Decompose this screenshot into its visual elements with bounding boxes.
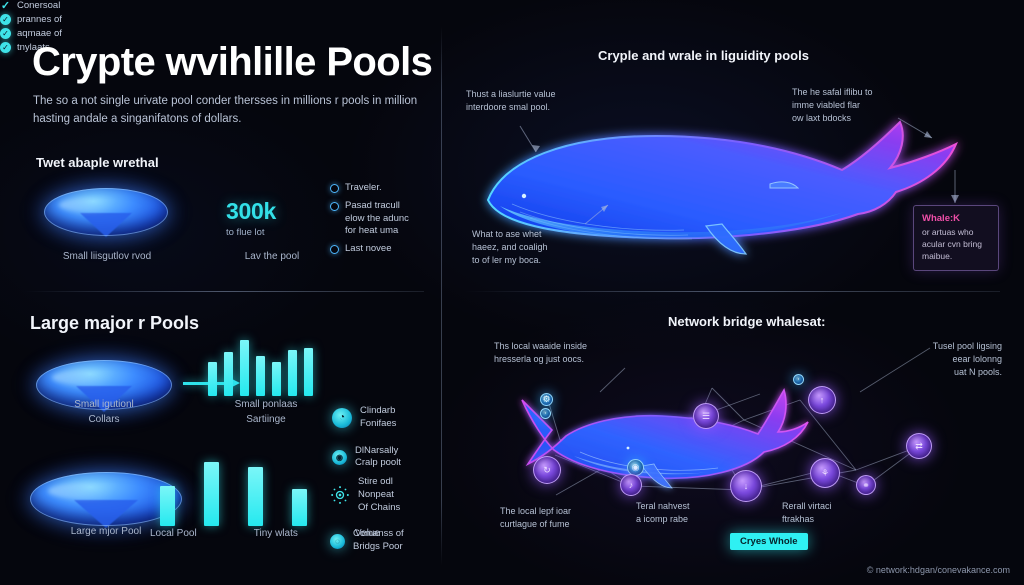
checklist-label: prannes of [17, 14, 62, 25]
check-circle-icon: ✓ [0, 28, 11, 39]
bar [160, 486, 175, 526]
infographic-canvas: Crypte wvihlille Pools The so a not sing… [0, 0, 1024, 585]
network-node[interactable]: ☰ [693, 403, 719, 429]
bullet-list-top-left: Traveler. Pasad tracull elow the adunc f… [330, 182, 440, 261]
legend-label: Comanss of Bridgs Poor [353, 528, 404, 554]
bridge-icon: ◌ [330, 534, 345, 549]
check-circle-icon: ✓ [0, 42, 11, 53]
checklist-label: aqmaae of [17, 28, 62, 39]
horizontal-divider-right [464, 291, 1000, 292]
axis-label: Tiny wlats [254, 528, 298, 539]
liquidity-pool-small-icon [44, 188, 168, 236]
list-item: Pasad tracull elow the adunc for heat um… [330, 200, 440, 238]
list-item: ✓ prannes of [0, 14, 108, 25]
list-item: ◔ Clindarb Fonifaes [332, 405, 444, 431]
stat-value: 300k [226, 198, 276, 225]
ring-bullet-icon [330, 184, 339, 193]
network-node[interactable]: ↻ [533, 456, 561, 484]
bullet-label: Last novee [345, 243, 391, 256]
node-icon: ◉ [332, 450, 347, 465]
legend-label: Clindarb Fonifaes [360, 405, 396, 431]
icon-legend-group-b: Stire odl Nonpeat Of Chains ◌ Comanss of… [330, 476, 444, 568]
bar-chart-top [208, 340, 313, 396]
list-item: ◉ DlNarsally Cralp poolt [332, 445, 444, 471]
annotation-callout: Teral nahvest a icomp rabe [636, 500, 732, 526]
section-heading-top-left: Twet abaple wrethal [36, 155, 159, 170]
bar [292, 489, 307, 526]
network-node[interactable]: ⇄ [906, 433, 932, 459]
axis-label: Local Pool [150, 528, 197, 539]
bullet-label: Traveler. [345, 182, 382, 195]
network-node[interactable]: ⚙ [540, 393, 553, 406]
list-item: ✓ aqmaae of [0, 28, 108, 39]
legend-label: Stire odl Nonpeat Of Chains [358, 476, 400, 514]
annotation-callout: The he safal iflibu to imme viabled flar… [792, 86, 900, 124]
watermark: © network:hdgan/conevakance.com [867, 565, 1010, 575]
network-node[interactable]: ⋅ [793, 374, 804, 385]
annotation-callout: Rerall virtaci ftrakhas [782, 500, 882, 526]
bar [256, 356, 265, 396]
horizontal-divider-left [24, 291, 424, 292]
network-node[interactable]: ↓ [730, 470, 762, 502]
list-item: ◌ Comanss of Bridgs Poor [330, 528, 444, 554]
legend-label: DlNarsally Cralp poolt [355, 445, 401, 471]
check-circle-icon: ✓ [0, 14, 11, 25]
stat-label: to flue lot [226, 227, 276, 238]
network-node[interactable]: ⚭ [856, 475, 876, 495]
bar [304, 348, 313, 396]
whale-callout-box: Whale:K or artuas who acular cvn bring m… [913, 205, 999, 271]
bar [208, 362, 217, 396]
annotation-callout: Tusel pool ligsing eear lolonng uat N po… [898, 340, 1002, 378]
bar-chart-bottom [160, 462, 307, 526]
checklist-label: Conersoal [17, 0, 60, 11]
stat-block-volume: 300k to flue lot [226, 198, 276, 238]
list-item: Stire odl Nonpeat Of Chains [330, 476, 444, 514]
network-node[interactable]: ⋅ [540, 408, 551, 419]
bar [224, 352, 233, 396]
checkmark-icon: ✓ [0, 0, 11, 11]
whale-illustration-network [510, 378, 810, 510]
annotation-callout: Ths local waaide inside hresserla og jus… [494, 340, 626, 366]
network-node[interactable]: ⚘ [810, 458, 840, 488]
ring-bullet-icon [330, 202, 339, 211]
section-heading-bottom-right: Network bridge whalesat: [668, 314, 825, 329]
page-subtitle: The so a not single urivate pool conder … [33, 93, 428, 129]
network-node[interactable]: ↑ [808, 386, 836, 414]
section-heading-top-right: Cryple and wrale in liguidity pools [598, 48, 809, 63]
whale-callout-title: Whale:K [922, 213, 990, 224]
icon-legend-group-a: ◔ Clindarb Fonifaes ◉ DlNarsally Cralp p… [332, 405, 444, 484]
bar [248, 467, 263, 526]
chain-hub-icon [330, 485, 350, 505]
list-item: Last novee [330, 243, 440, 256]
bar [288, 350, 297, 396]
whale-callout-text: or artuas who acular cvn bring maibue. [922, 226, 990, 262]
bar [204, 462, 219, 526]
bar [272, 362, 281, 396]
bullet-label: Pasad tracull elow the adunc for heat um… [345, 200, 409, 238]
caption-stat: Lav the pool [212, 250, 332, 265]
list-item: ✓ Conersoal [0, 0, 108, 11]
status-badge: Cryes Whole [730, 533, 808, 550]
section-heading-bottom-left: Large major r Pools [30, 313, 199, 334]
annotation-callout: What to ase whet haeez, and coaligh to o… [472, 228, 584, 266]
list-item: Traveler. [330, 182, 440, 195]
caption-pool-medium: Small igutionl Collars [28, 398, 180, 427]
caption-pool-small: Small liisgutlov rvod [32, 250, 182, 265]
annotation-callout: Thust a liaslurtie value interdoore smal… [466, 88, 584, 114]
ring-bullet-icon [330, 245, 339, 254]
clock-icon: ◔ [332, 408, 352, 428]
page-title: Crypte wvihlille Pools [32, 40, 432, 85]
bar [240, 340, 249, 396]
annotation-callout: The local lepf ioar curtlague of fume [500, 505, 620, 531]
network-node[interactable]: ♪ [620, 474, 642, 496]
caption-bar-chart-top: Small ponlaas Sartiinge [200, 398, 332, 427]
